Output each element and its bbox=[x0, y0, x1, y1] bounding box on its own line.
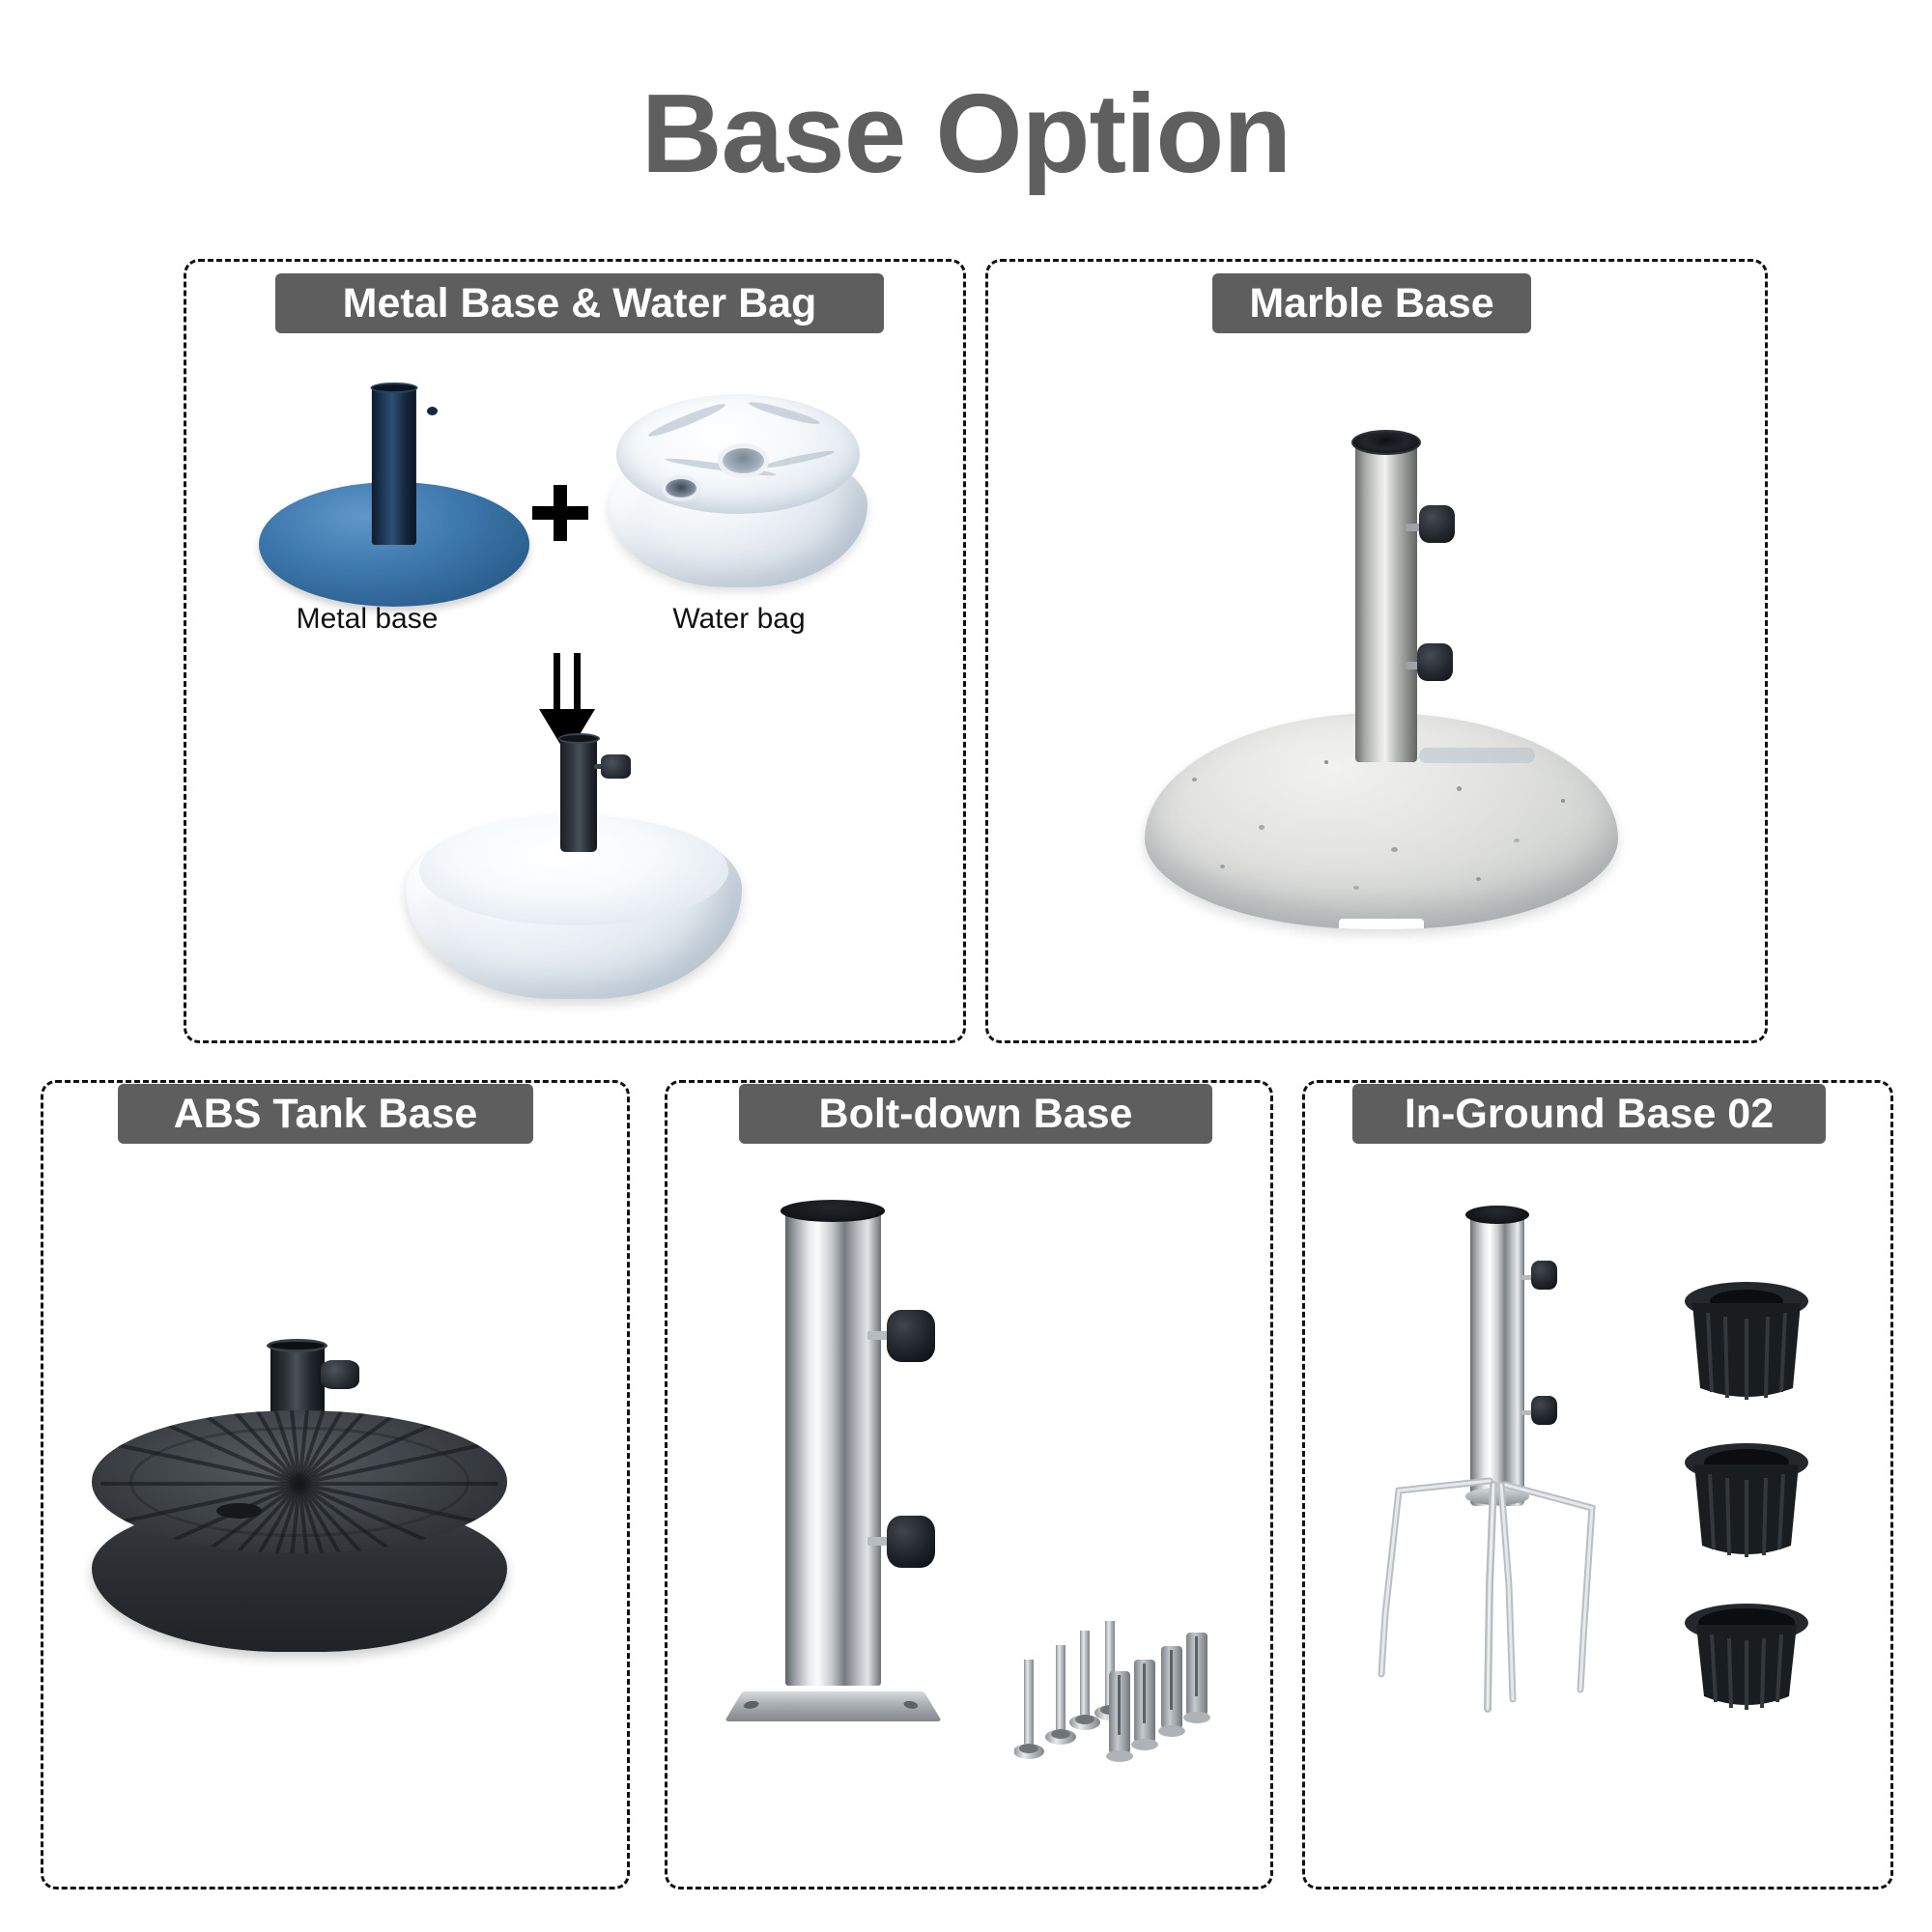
screw bbox=[1014, 1660, 1044, 1759]
metal-base-image bbox=[259, 384, 529, 607]
bolt-down-lower-knob bbox=[887, 1516, 935, 1568]
abs-tank-base-knob bbox=[321, 1360, 360, 1389]
bolt-down-upper-knob bbox=[887, 1310, 935, 1362]
caption-water-bag: Water bag bbox=[618, 603, 860, 636]
bolt-down-base-mounting-plate bbox=[724, 1691, 942, 1721]
in-ground-base-pole bbox=[1470, 1213, 1524, 1505]
panel-label-metal-water-bag: Metal Base & Water Bag bbox=[275, 273, 884, 333]
assembled-base-knob bbox=[601, 754, 631, 778]
bolt-down-base-pole bbox=[785, 1209, 881, 1686]
bolt-down-base-pole-cap bbox=[781, 1200, 885, 1221]
water-bag-crease bbox=[762, 449, 835, 471]
wall-anchor bbox=[1131, 1660, 1158, 1750]
marble-base-lower-knob bbox=[1417, 643, 1453, 681]
panel-label-in-ground-base: In-Ground Base 02 bbox=[1352, 1084, 1826, 1144]
abs-tank-base-top-surface bbox=[92, 1410, 507, 1552]
assembled-base-tube-opening bbox=[558, 733, 600, 744]
infographic-page: Base Option Metal Base & Water Bag Metal… bbox=[0, 0, 1932, 1932]
in-ground-lower-knob bbox=[1531, 1396, 1557, 1425]
metal-base-tube-opening bbox=[371, 383, 418, 394]
panel-label-abs-tank-base: ABS Tank Base bbox=[118, 1084, 533, 1144]
metal-base-knob bbox=[427, 407, 438, 415]
marble-base-notch bbox=[1339, 919, 1424, 929]
plus-symbol bbox=[532, 485, 588, 541]
pole-adapter-small bbox=[1679, 1602, 1814, 1718]
page-title: Base Option bbox=[0, 75, 1932, 193]
screws-and-anchors-image bbox=[1014, 1575, 1265, 1806]
water-bag-image bbox=[609, 394, 867, 587]
water-bag-center-hole bbox=[723, 448, 764, 473]
water-bag-crease bbox=[647, 401, 727, 440]
bolt-down-base-image bbox=[715, 1188, 1034, 1729]
metal-base-tube bbox=[372, 384, 416, 545]
in-ground-base-pole-cap bbox=[1465, 1206, 1528, 1224]
in-ground-upper-knob bbox=[1531, 1261, 1557, 1290]
marble-base-upper-knob bbox=[1419, 505, 1455, 543]
in-ground-base-image bbox=[1343, 1198, 1662, 1719]
pole-adapter-medium bbox=[1679, 1441, 1814, 1565]
assembled-base-tube bbox=[560, 736, 597, 852]
assembled-base-image bbox=[406, 736, 742, 999]
panel-label-marble-base: Marble Base bbox=[1212, 273, 1531, 333]
water-bag-fill-port bbox=[666, 479, 696, 497]
marble-base-image bbox=[1145, 437, 1618, 929]
panel-label-bolt-down-base: Bolt-down Base bbox=[739, 1084, 1212, 1144]
pole-adapter-large bbox=[1679, 1280, 1814, 1407]
caption-metal-base: Metal base bbox=[241, 603, 493, 636]
screw bbox=[1045, 1645, 1076, 1745]
abs-tank-base-image bbox=[92, 1343, 507, 1652]
wall-anchor bbox=[1158, 1646, 1185, 1737]
wall-anchor bbox=[1183, 1633, 1210, 1723]
in-ground-base-spike-legs bbox=[1343, 1469, 1662, 1720]
water-bag-crease bbox=[748, 399, 820, 427]
wall-anchor bbox=[1106, 1671, 1133, 1762]
marble-base-tube bbox=[1355, 437, 1417, 762]
